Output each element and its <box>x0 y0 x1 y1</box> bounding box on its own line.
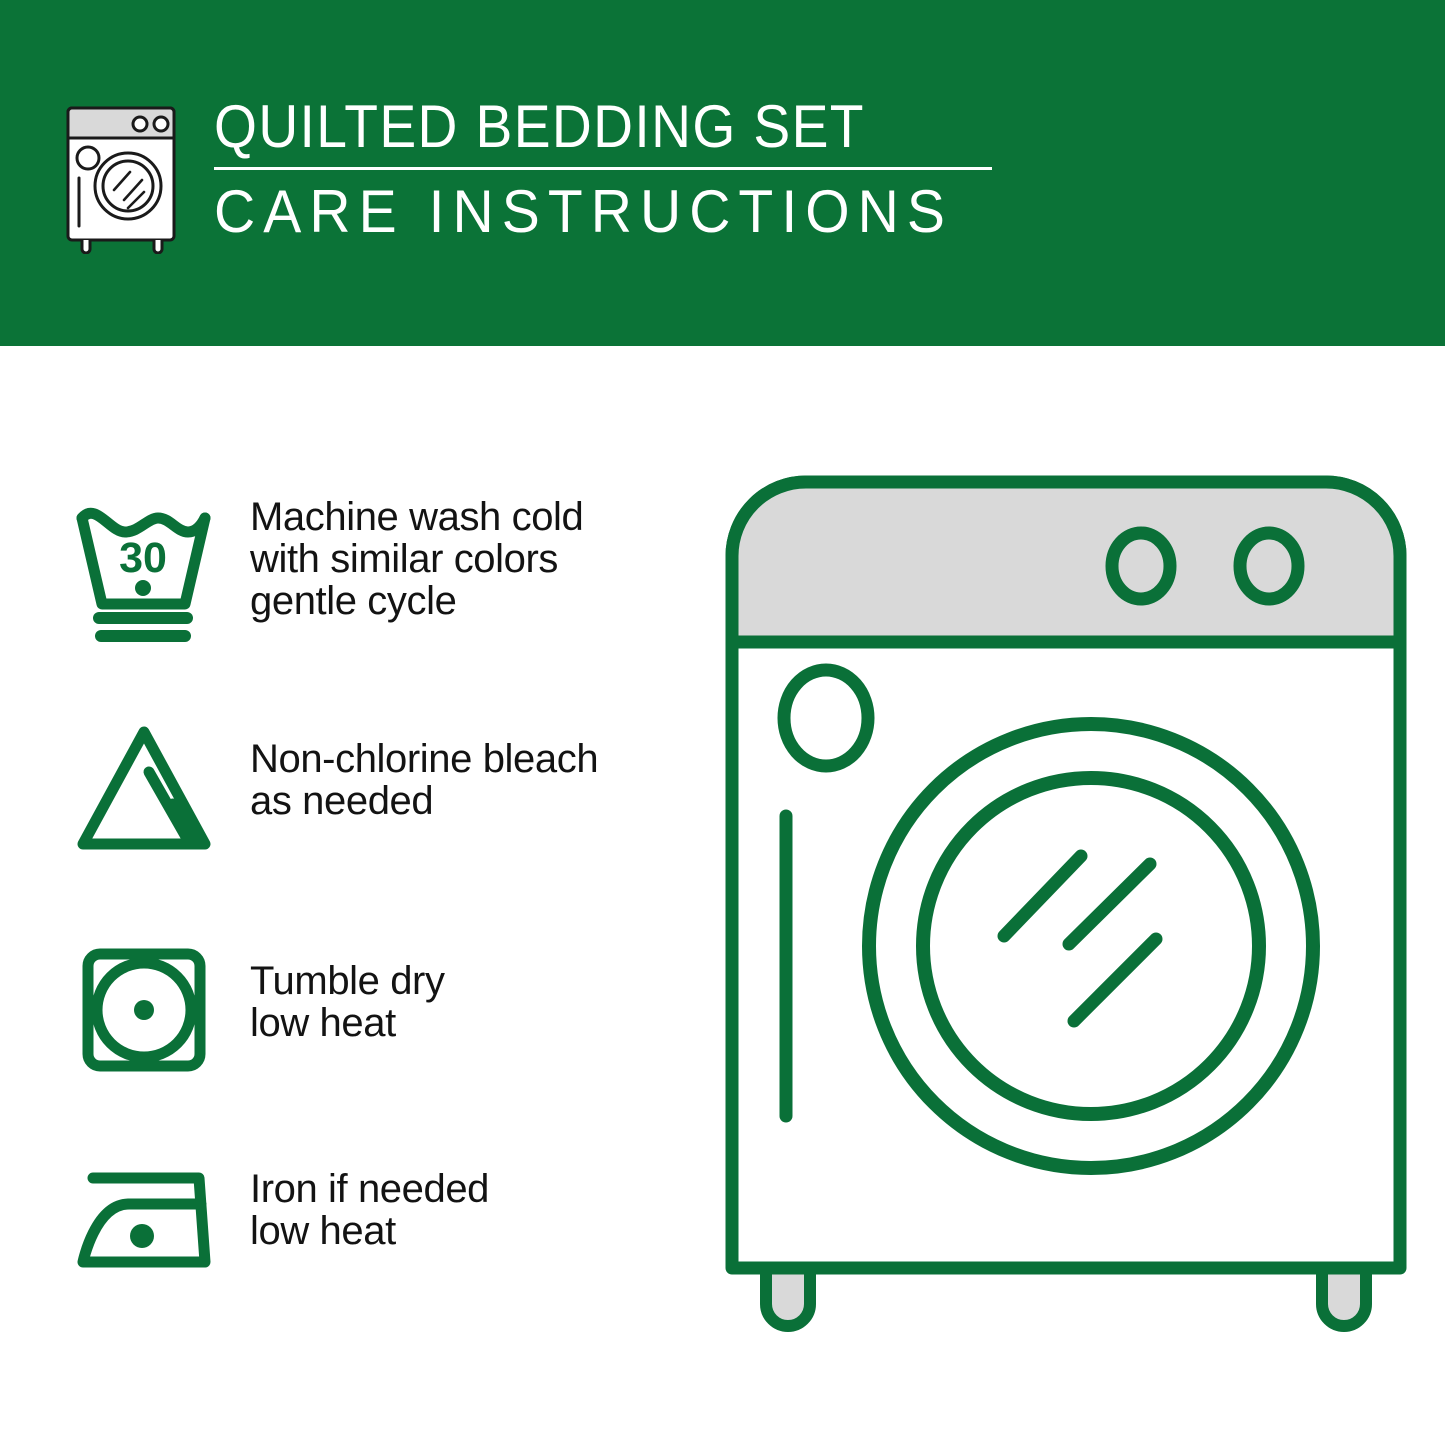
page-subtitle: CARE INSTRUCTIONS <box>214 180 953 244</box>
care-label-tumble-dry: Tumble dry low heat <box>250 934 445 1044</box>
wash-tub-30-gentle-icon: 30 <box>62 494 226 646</box>
page-title: QUILTED BEDDING SET <box>214 96 930 158</box>
care-row-machine-wash: 30 Machine wash cold with similar colors… <box>62 494 702 646</box>
care-instructions-page: QUILTED BEDDING SET CARE INSTRUCTIONS <box>0 0 1445 1445</box>
header-text-block: QUILTED BEDDING SET CARE INSTRUCTIONS <box>214 96 992 244</box>
header-divider <box>214 167 992 170</box>
care-label-iron: Iron if needed low heat <box>250 1142 489 1252</box>
header-content: QUILTED BEDDING SET CARE INSTRUCTIONS <box>62 96 992 254</box>
care-row-bleach: Non-chlorine bleach as needed <box>62 714 702 866</box>
care-label-machine-wash: Machine wash cold with similar colors ge… <box>250 494 583 622</box>
tumble-dry-low-icon <box>62 934 226 1086</box>
header-banner: QUILTED BEDDING SET CARE INSTRUCTIONS <box>0 0 1445 346</box>
wash-temperature-value: 30 <box>119 534 167 582</box>
care-row-tumble-dry: Tumble dry low heat <box>62 934 702 1086</box>
care-row-iron: Iron if needed low heat <box>62 1142 702 1294</box>
front-load-washing-machine-illustration <box>716 466 1416 1366</box>
care-label-bleach: Non-chlorine bleach as needed <box>250 714 598 822</box>
washer-legs <box>766 1266 1366 1326</box>
iron-low-heat-icon <box>62 1142 226 1294</box>
care-instruction-list: 30 Machine wash cold with similar colors… <box>0 346 700 1445</box>
washer-knob-right <box>1240 533 1298 599</box>
washer-door-inner-ring <box>923 778 1259 1114</box>
washing-machine-icon <box>62 102 186 254</box>
washer-dial <box>784 670 868 766</box>
non-chlorine-bleach-triangle-icon <box>62 714 226 866</box>
washer-knob-left <box>1112 533 1170 599</box>
